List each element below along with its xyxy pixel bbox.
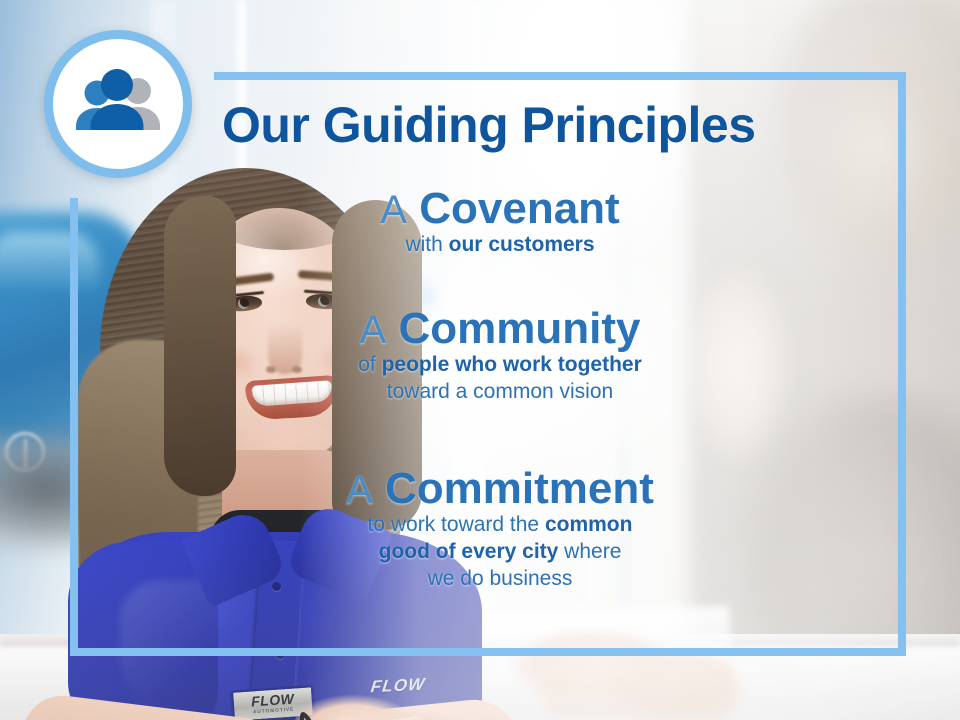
principle-heading: A Community	[120, 306, 880, 352]
subtext-plain: with	[405, 233, 448, 256]
people-group-icon-badge	[44, 30, 192, 178]
subtext-bold: our customers	[449, 233, 595, 256]
frame-border-left	[70, 198, 78, 656]
subtext-bold: people who work together	[382, 353, 642, 376]
subtext-line: we do business	[120, 566, 880, 593]
principle-covenant: A Covenant with our customers	[120, 186, 880, 259]
people-group-icon	[70, 68, 166, 140]
principle-article: A	[360, 308, 387, 352]
frame-border-right	[898, 72, 906, 656]
subtext-line: to work toward the common	[120, 512, 880, 539]
page-title: Our Guiding Principles	[222, 96, 882, 154]
principle-heading: A Commitment	[120, 466, 880, 512]
subtext-plain: of	[358, 353, 381, 376]
principle-word: Commitment	[385, 464, 654, 513]
principle-commitment: A Commitment to work toward the common g…	[120, 466, 880, 592]
subtext-plain: to work toward the	[368, 513, 545, 536]
subtext-line: of people who work together	[120, 352, 880, 379]
subtext-bold: common	[545, 513, 633, 536]
subtext-plain: where	[558, 540, 621, 563]
frame-border-bottom	[70, 648, 906, 656]
principle-article: A	[380, 188, 407, 232]
principle-subtext: of people who work together toward a com…	[120, 352, 880, 406]
principle-word: Covenant	[419, 184, 619, 233]
customer-hands-lower	[540, 660, 740, 720]
frame-border-top	[214, 72, 906, 80]
principle-community: A Community of people who work together …	[120, 306, 880, 406]
principle-subtext: with our customers	[120, 232, 880, 259]
guiding-principles-graphic: FLOW FLOW AUTOMOTIVE	[0, 0, 960, 720]
principle-article: A	[346, 468, 373, 512]
principle-subtext: to work toward the common good of every …	[120, 512, 880, 593]
subtext-bold: good of every city	[379, 540, 559, 563]
principle-word: Community	[398, 304, 640, 353]
subtext-line: good of every city where	[120, 539, 880, 566]
subtext-line: toward a common vision	[120, 379, 880, 406]
principle-heading: A Covenant	[120, 186, 880, 232]
